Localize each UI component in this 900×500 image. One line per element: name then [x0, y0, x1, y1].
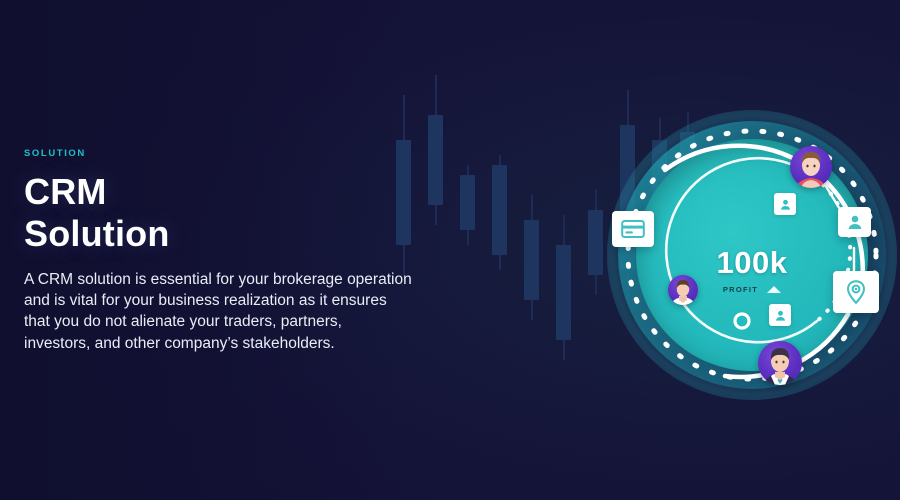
profit-label: PROFIT — [723, 285, 758, 294]
credit-card-icon — [621, 219, 645, 239]
avatar-woman-art — [790, 146, 832, 188]
crm-solution-banner: 100k PROFIT — [0, 0, 900, 500]
arc-node-marker — [735, 314, 749, 328]
body-line-3: that you do not alienate your traders, p… — [24, 311, 524, 332]
eyebrow-label: SOLUTION — [24, 148, 524, 159]
candle-body — [524, 220, 539, 300]
avatar-person-art — [668, 275, 698, 305]
body-line-2: and is vital for your business realizati… — [24, 290, 524, 311]
candle-body — [556, 245, 571, 340]
profit-value: 100k — [672, 247, 832, 278]
page-title: CRM Solution — [24, 171, 524, 255]
person-badge-icon — [779, 198, 792, 211]
card-contact[interactable] — [838, 207, 871, 237]
candle-body — [588, 210, 603, 275]
trend-up-icon — [767, 286, 781, 293]
crm-network-illustration: 100k PROFIT — [605, 108, 899, 402]
location-pin-icon — [844, 279, 868, 305]
candle-5 — [524, 70, 539, 400]
headline-line-2: Solution — [24, 213, 524, 255]
candle-7 — [588, 70, 603, 400]
body-paragraph: A CRM solution is essential for your bro… — [24, 269, 524, 355]
badge-contact-upper[interactable] — [774, 193, 796, 215]
card-payment[interactable] — [612, 211, 654, 247]
copy-block: SOLUTION CRM Solution A CRM solution is … — [24, 148, 524, 354]
person-badge-icon — [774, 309, 787, 322]
candle-6 — [556, 70, 571, 400]
avatar-man-bottom[interactable] — [758, 341, 802, 385]
headline-line-1: CRM — [24, 171, 524, 213]
person-icon — [846, 213, 864, 231]
card-location[interactable] — [833, 271, 879, 313]
avatar-woman-top-right[interactable] — [790, 146, 832, 188]
avatar-person-left[interactable] — [668, 275, 698, 305]
avatar-man-art — [758, 341, 802, 385]
body-line-1: A CRM solution is essential for your bro… — [24, 269, 524, 290]
badge-contact-lower[interactable] — [769, 304, 791, 326]
body-line-4: investors, and other company’s stakehold… — [24, 333, 524, 354]
